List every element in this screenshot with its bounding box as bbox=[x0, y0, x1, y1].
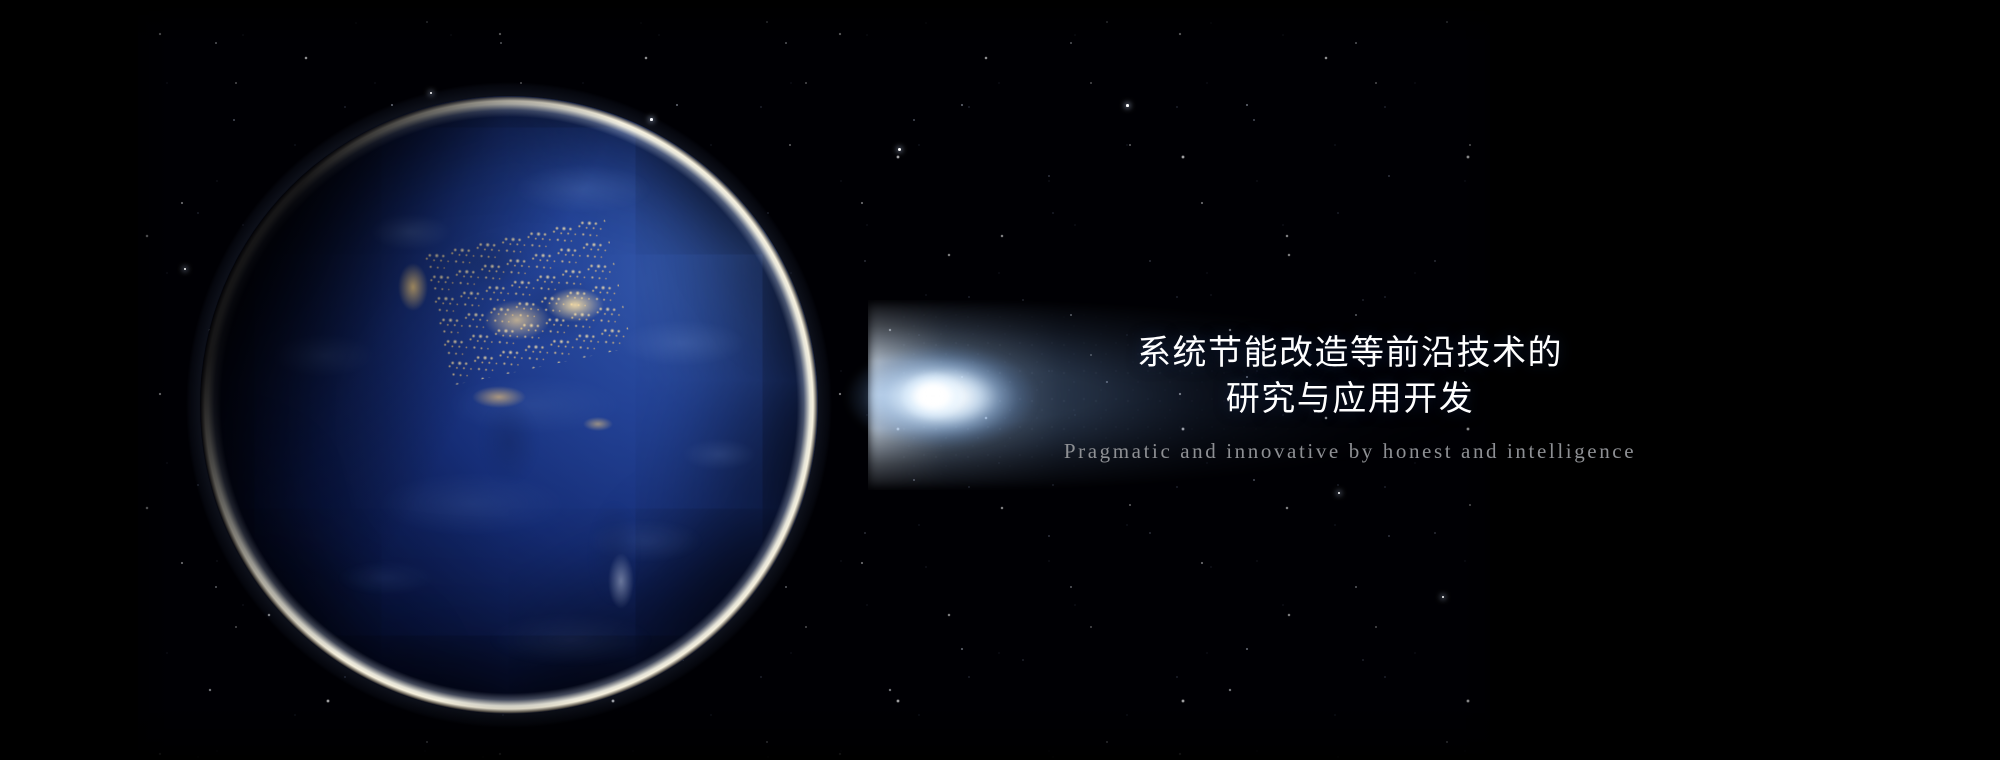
subheadline: Pragmatic and innovative by honest and i… bbox=[900, 438, 1800, 464]
earth-disc bbox=[200, 96, 818, 714]
bright-star bbox=[898, 148, 901, 151]
bright-star bbox=[430, 92, 432, 94]
bright-star bbox=[1126, 104, 1129, 107]
headline-line-2: 研究与应用开发 bbox=[900, 376, 1800, 422]
earth-globe bbox=[200, 96, 818, 714]
bright-star bbox=[1442, 596, 1444, 598]
earth-limb-highlight bbox=[200, 96, 818, 714]
hero-banner: 系统节能改造等前沿技术的 研究与应用开发 Pragmatic and innov… bbox=[0, 0, 2000, 760]
bright-star bbox=[1338, 492, 1340, 494]
bright-star bbox=[184, 268, 186, 270]
headline-line-1: 系统节能改造等前沿技术的 bbox=[900, 330, 1800, 376]
banner-copy: 系统节能改造等前沿技术的 研究与应用开发 Pragmatic and innov… bbox=[900, 330, 1800, 464]
